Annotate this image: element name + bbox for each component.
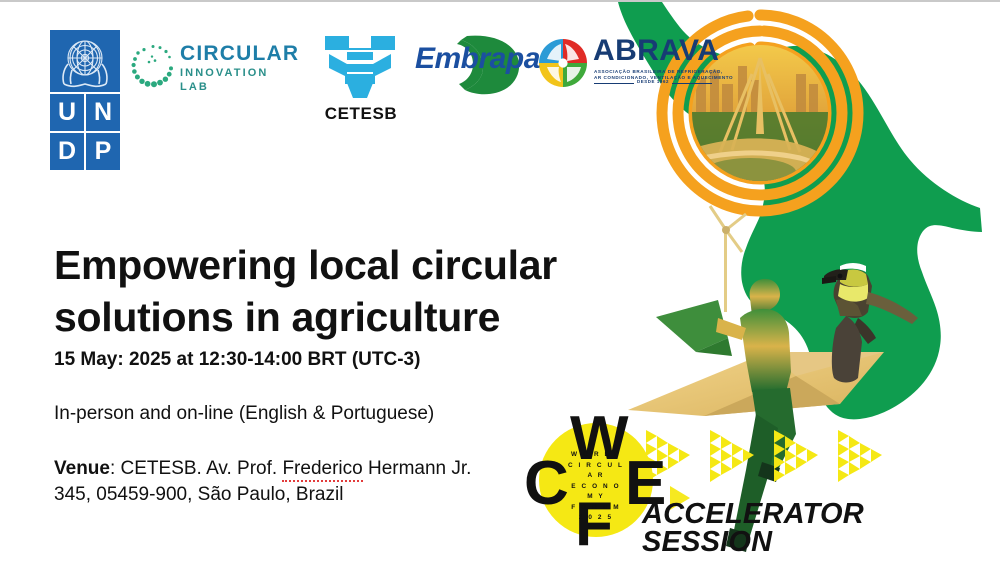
abrava-since-label: DESDE 1962: [594, 79, 712, 84]
logo-undp: U N D P: [50, 30, 120, 170]
forum-line-3: E C O N O M Y: [566, 482, 626, 503]
accelerator-line-2: SESSION: [642, 528, 864, 556]
abrava-tagline-1: ASSOCIAÇÃO BRASILEIRA DE REFRIGERAÇÃO,: [594, 69, 723, 74]
accelerator-session-text: ACCELERATOR SESSION: [642, 500, 864, 556]
embrapa-wordmark: Embrapa: [415, 42, 540, 76]
undp-letter-p: P: [86, 133, 120, 170]
forum-line-1: W O R L D: [566, 450, 626, 461]
wind-turbine-icon: [710, 206, 746, 312]
wcef-letter-c: C: [524, 453, 569, 515]
undp-letters-row-2: D P: [50, 133, 120, 170]
venue-label: Venue: [54, 458, 110, 479]
forum-line-4: F O R U M: [566, 503, 626, 514]
un-emblem-icon: [50, 30, 120, 92]
abrava-quadrant-circle-icon: [537, 37, 589, 89]
undp-letter-n: N: [86, 94, 120, 131]
poster-canvas: U N D P: [0, 0, 1000, 564]
undp-letter-u: U: [50, 94, 84, 131]
abrava-wordmark: ABRAVA: [593, 35, 719, 67]
forum-line-5: 2 0 2 5: [566, 513, 626, 524]
venue-line-2: 345, 05459-900, São Paulo, Brazil: [54, 484, 343, 505]
logo-circular-innovation-lab: CIRCULAR INNOVATION LAB: [130, 40, 285, 90]
logo-cetesb: CETESB: [315, 34, 407, 134]
cil-line-1: CIRCULAR: [180, 43, 299, 65]
dotted-circle-icon: [130, 42, 176, 88]
event-date-line: 15 May: 2025 at 12:30-14:00 BRT (UTC-3): [54, 348, 614, 372]
cil-line-2: INNOVATION LAB: [180, 66, 299, 94]
venue-part-1: : CETESB. Av. Prof.: [110, 458, 282, 479]
cetesb-label: CETESB: [315, 104, 407, 124]
cil-wordmark: CIRCULAR INNOVATION LAB: [180, 43, 299, 94]
venue-misspelled-word: Frederico: [282, 458, 362, 482]
cetesb-v-mark-icon: [323, 34, 397, 100]
logo-abrava: ABRAVA ASSOCIAÇÃO BRASILEIRA DE REFRIGER…: [537, 35, 717, 97]
undp-letter-d: D: [50, 133, 84, 170]
wcef-accelerator-lockup: W C E F W O R L D C I R C U L A R E C O …: [520, 408, 920, 564]
wcef-forum-text: W O R L D C I R C U L A R E C O N O M Y …: [566, 450, 626, 524]
forum-line-2: C I R C U L A R: [566, 461, 626, 482]
undp-letters-row-1: U N: [50, 94, 120, 131]
venue-part-2: Hermann Jr.: [363, 458, 472, 479]
page-title: Empowering local circular solutions in a…: [54, 239, 694, 343]
accelerator-line-1: ACCELERATOR: [642, 500, 864, 528]
logo-embrapa: Embrapa: [415, 34, 540, 100]
